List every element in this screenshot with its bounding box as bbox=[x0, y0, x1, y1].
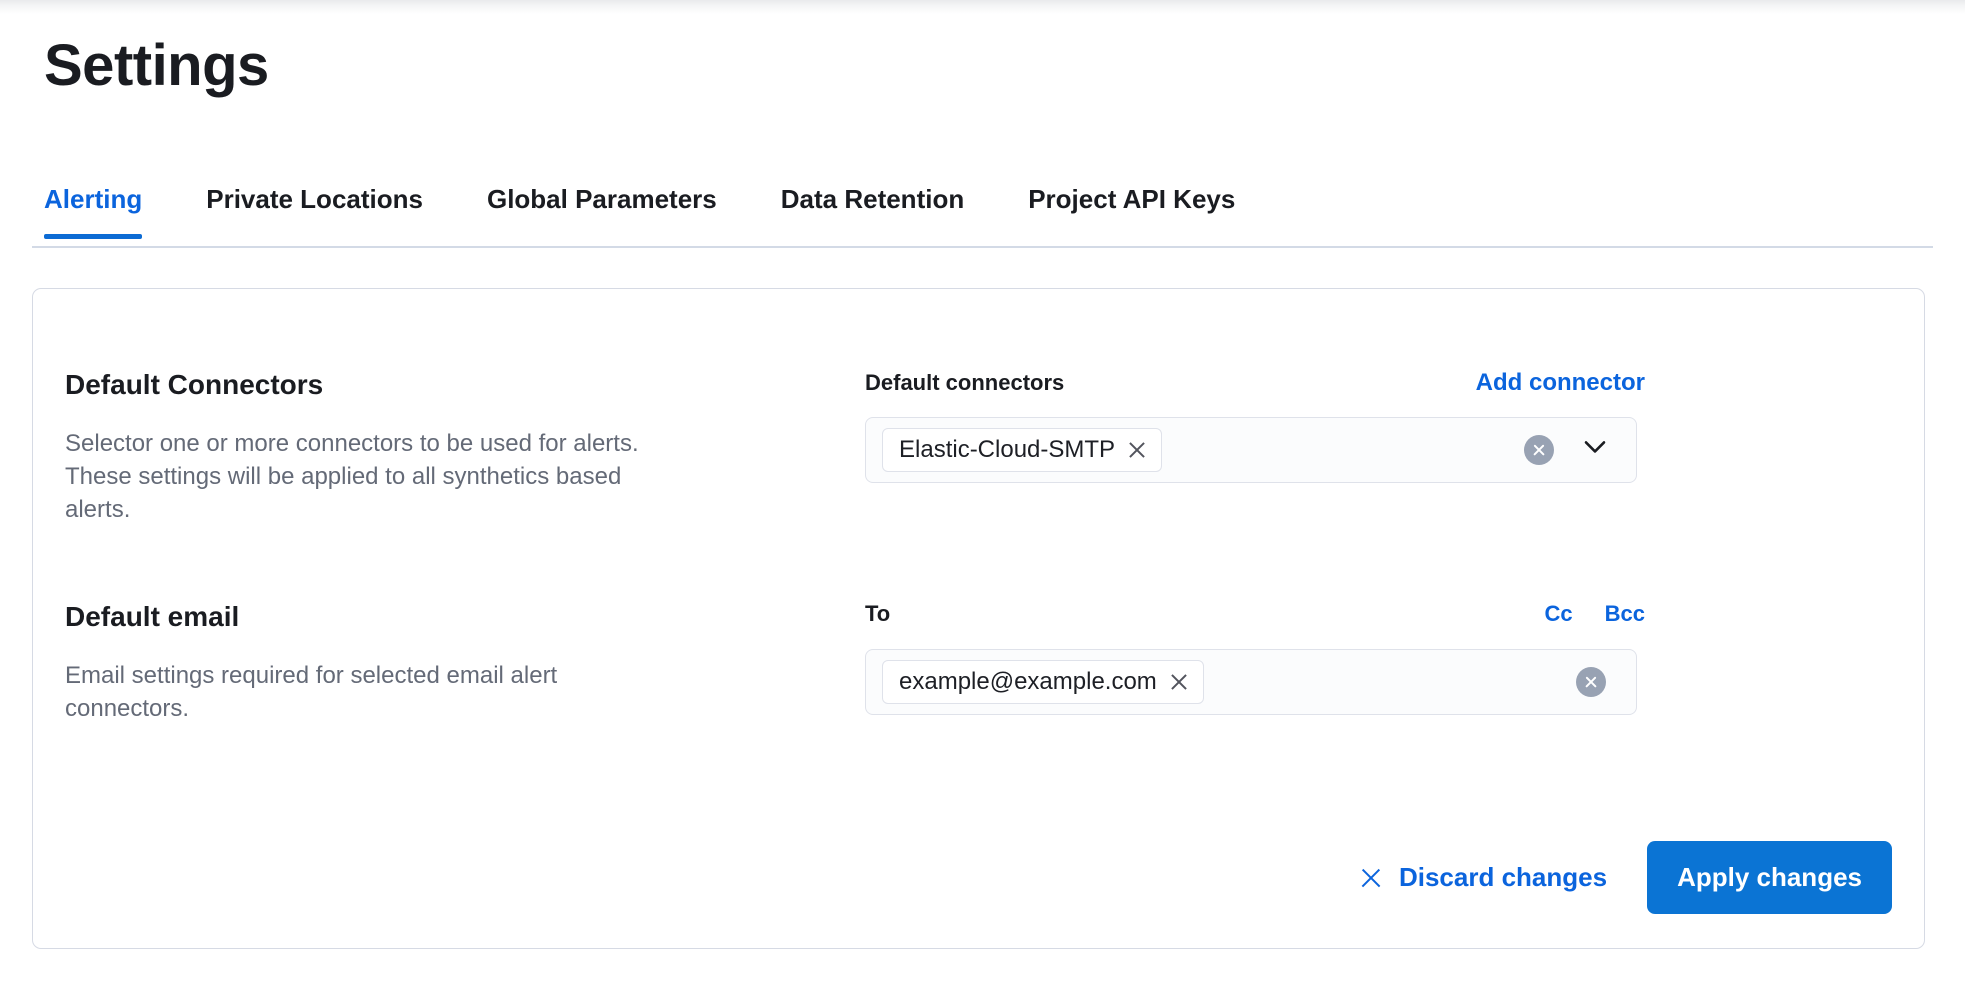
clear-email-recipients-icon[interactable] bbox=[1576, 667, 1606, 697]
tab-global-parameters[interactable]: Global Parameters bbox=[487, 176, 717, 237]
email-extra-recipient-links: Cc Bcc bbox=[1545, 601, 1645, 627]
discard-changes-label: Discard changes bbox=[1399, 862, 1607, 893]
close-icon bbox=[1359, 866, 1383, 890]
tab-project-api-keys[interactable]: Project API Keys bbox=[1028, 176, 1235, 237]
default-email-section: Default email Email settings required fo… bbox=[65, 601, 1892, 725]
to-recipients-combobox[interactable]: example@example.com bbox=[865, 649, 1637, 715]
remove-email-recipient-icon[interactable] bbox=[1169, 672, 1189, 692]
tab-project-api-keys-label: Project API Keys bbox=[1028, 184, 1235, 214]
settings-tabs: Alerting Private Locations Global Parame… bbox=[32, 176, 1933, 248]
default-connectors-description: Selector one or more connectors to be us… bbox=[65, 427, 665, 526]
default-email-title: Default email bbox=[65, 601, 825, 633]
tab-global-parameters-label: Global Parameters bbox=[487, 184, 717, 214]
top-shadow-strip bbox=[0, 0, 1965, 14]
email-recipient-pill-label: example@example.com bbox=[899, 669, 1157, 695]
remove-connector-icon[interactable] bbox=[1127, 440, 1147, 460]
discard-changes-button[interactable]: Discard changes bbox=[1347, 852, 1619, 903]
default-connectors-field-column: Default connectors Add connector Elastic… bbox=[865, 369, 1645, 527]
default-email-field-column: To Cc Bcc example@example.com bbox=[865, 601, 1645, 725]
add-connector-link[interactable]: Add connector bbox=[1476, 369, 1645, 397]
page-title: Settings bbox=[44, 36, 269, 97]
apply-changes-button[interactable]: Apply changes bbox=[1647, 841, 1892, 914]
default-connectors-combobox[interactable]: Elastic-Cloud-SMTP bbox=[865, 417, 1637, 483]
tab-alerting-label: Alerting bbox=[44, 184, 142, 214]
to-field-label: To bbox=[865, 601, 890, 627]
default-connectors-title: Default Connectors bbox=[65, 369, 825, 401]
bcc-link[interactable]: Bcc bbox=[1605, 601, 1645, 627]
default-connectors-field-label: Default connectors bbox=[865, 370, 1064, 396]
email-recipient-pill[interactable]: example@example.com bbox=[882, 660, 1204, 704]
default-connectors-description-column: Default Connectors Selector one or more … bbox=[65, 369, 865, 527]
default-connectors-section: Default Connectors Selector one or more … bbox=[65, 369, 1892, 527]
tab-data-retention[interactable]: Data Retention bbox=[781, 176, 964, 237]
connector-pill[interactable]: Elastic-Cloud-SMTP bbox=[882, 428, 1162, 472]
chevron-down-icon[interactable] bbox=[1582, 434, 1608, 460]
alerting-settings-panel: Default Connectors Selector one or more … bbox=[32, 288, 1925, 949]
settings-page: Settings Alerting Private Locations Glob… bbox=[0, 0, 1965, 989]
tab-private-locations[interactable]: Private Locations bbox=[206, 176, 423, 237]
default-email-description-column: Default email Email settings required fo… bbox=[65, 601, 865, 725]
tab-alerting[interactable]: Alerting bbox=[44, 176, 142, 237]
panel-actions: Discard changes Apply changes bbox=[1347, 841, 1892, 914]
default-email-field-header: To Cc Bcc bbox=[865, 601, 1645, 631]
clear-connectors-icon[interactable] bbox=[1524, 435, 1554, 465]
tab-private-locations-label: Private Locations bbox=[206, 184, 423, 214]
cc-link[interactable]: Cc bbox=[1545, 601, 1573, 627]
tab-data-retention-label: Data Retention bbox=[781, 184, 964, 214]
default-email-description: Email settings required for selected ema… bbox=[65, 659, 665, 725]
connector-pill-label: Elastic-Cloud-SMTP bbox=[899, 437, 1115, 463]
default-connectors-field-header: Default connectors Add connector bbox=[865, 369, 1645, 399]
